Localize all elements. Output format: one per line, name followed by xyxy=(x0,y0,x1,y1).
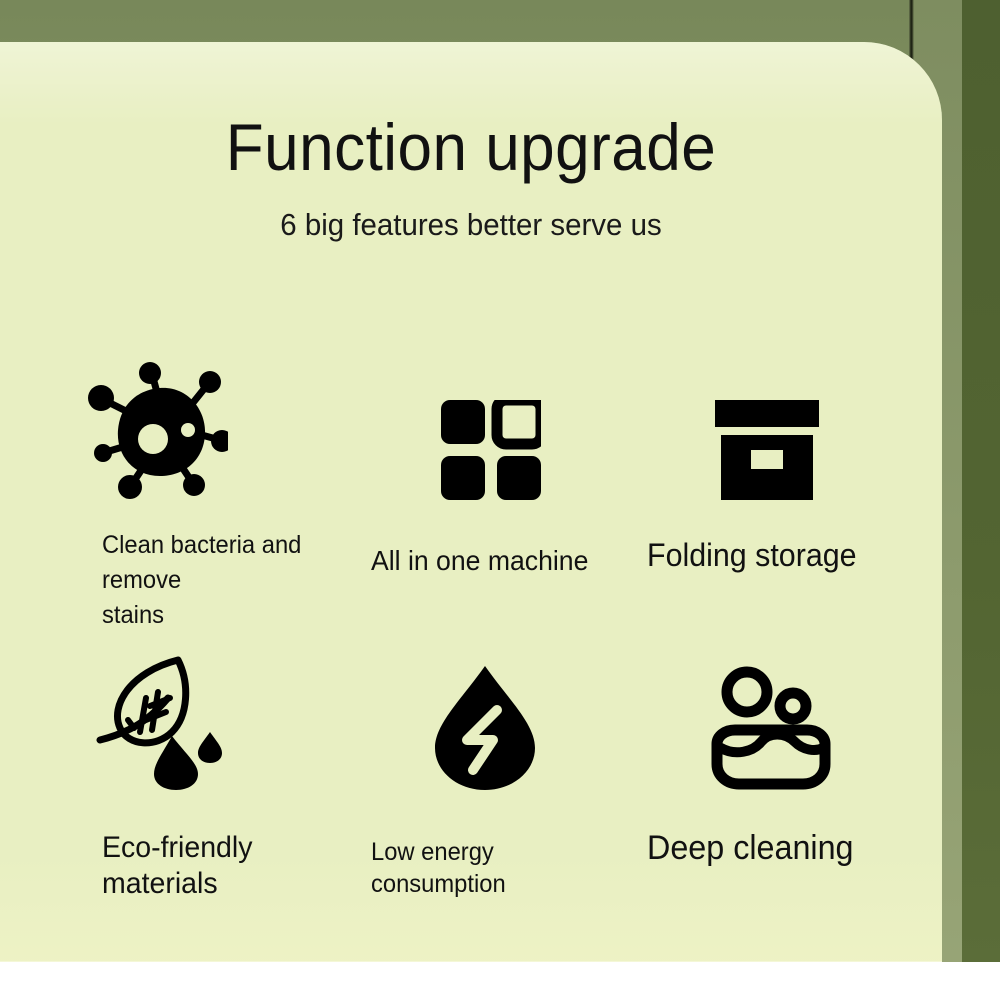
feature-label-folding-storage: Folding storage xyxy=(647,536,926,574)
feature-grid: Clean bacteria and remove stains All in … xyxy=(60,350,940,930)
feature-label-eco-friendly: Eco-friendly materials xyxy=(102,830,341,902)
feature-label-deep-cleaning: Deep cleaning xyxy=(647,828,926,868)
feature-poster: Function upgrade 6 big features better s… xyxy=(0,0,1000,1000)
feature-row-2: Eco-friendly materials Low energy consum… xyxy=(60,640,940,930)
feature-label-all-in-one: All in one machine xyxy=(371,544,633,578)
background-band-right xyxy=(962,0,1000,962)
feature-item-eco-friendly: Eco-friendly materials xyxy=(60,640,353,902)
droplet-bolt-icon xyxy=(353,640,646,790)
storage-box-icon xyxy=(647,350,940,500)
page-title: Function upgrade xyxy=(28,108,913,186)
virus-icon xyxy=(60,350,353,500)
soap-bubbles-icon xyxy=(647,640,940,790)
feature-label-low-energy: Low energy consumption xyxy=(371,836,633,900)
page-subtitle: 6 big features better serve us xyxy=(24,206,919,244)
heading-block: Function upgrade 6 big features better s… xyxy=(0,108,942,244)
feature-item-deep-cleaning: Deep cleaning xyxy=(647,640,940,868)
leaf-droplet-icon xyxy=(60,640,353,790)
feature-item-all-in-one: All in one machine xyxy=(353,350,646,578)
feature-item-clean-bacteria: Clean bacteria and remove stains xyxy=(60,350,353,633)
feature-item-low-energy: Low energy consumption xyxy=(353,640,646,900)
feature-row-1: Clean bacteria and remove stains All in … xyxy=(60,350,940,640)
feature-item-folding-storage: Folding storage xyxy=(647,350,940,574)
feature-label-clean-bacteria: Clean bacteria and remove stains xyxy=(102,528,341,633)
bottom-white-strip xyxy=(0,962,1000,1000)
grid-squares-icon xyxy=(353,350,646,500)
